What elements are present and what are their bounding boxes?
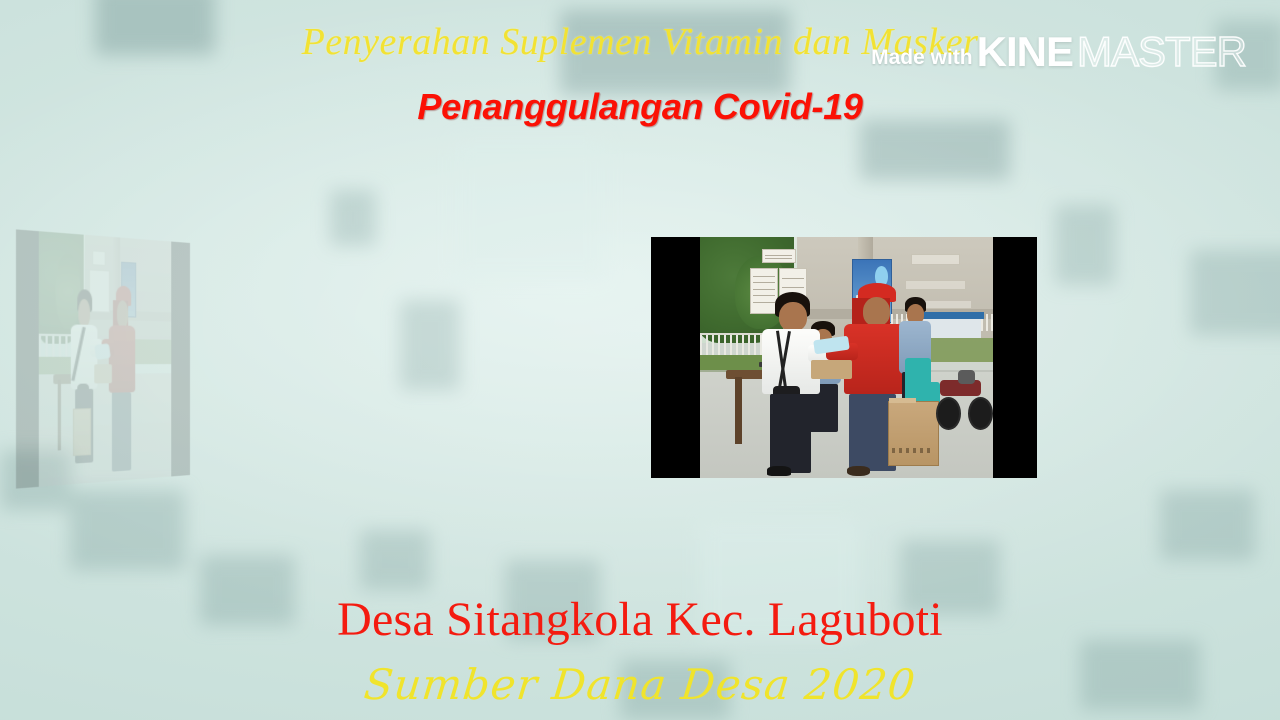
main-photo-frame xyxy=(651,237,1037,478)
slide-footer-line-1: Desa Sitangkola Kec. Laguboti xyxy=(0,592,1280,647)
ghost-photo-image xyxy=(39,231,171,487)
slide-canvas: Penyerahan Suplemen Vitamin dan Masker P… xyxy=(0,0,1280,720)
ghost-letterbox-left xyxy=(16,229,39,488)
main-photo-image xyxy=(700,237,993,478)
ghost-transition-photo xyxy=(16,229,190,488)
kinemaster-watermark: Made with KINE MASTER xyxy=(871,28,1246,76)
watermark-brand-kine: KINE xyxy=(977,28,1073,76)
ghost-letterbox-right xyxy=(171,242,190,477)
watermark-made-with-label: Made with xyxy=(871,46,973,70)
watermark-brand-master: MASTER xyxy=(1077,28,1246,76)
slide-footer-line-2: Sumber Dana Desa 2020 xyxy=(0,660,1280,709)
slide-title-line-2: Penanggulangan Covid-19 xyxy=(0,86,1280,128)
